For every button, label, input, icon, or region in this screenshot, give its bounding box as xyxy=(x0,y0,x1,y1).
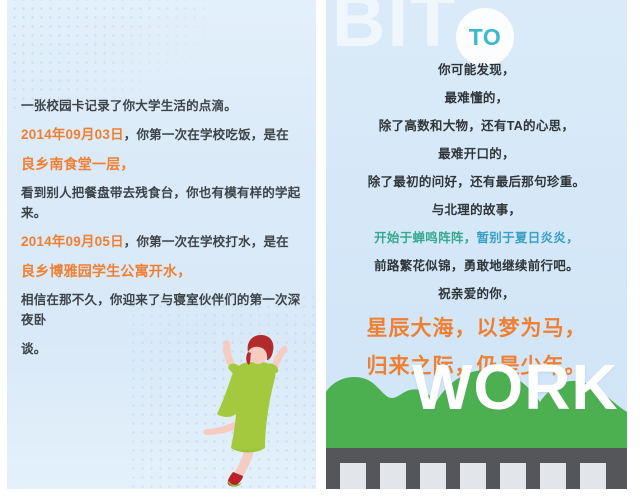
right-line-1: 最难懂的， xyxy=(332,90,621,107)
left-highlight-2: 良乡博雅园学生公寓开水， xyxy=(21,261,311,281)
date-rest-2: ，你第一次在学校打水，是在 xyxy=(124,235,289,249)
poster-root: 一张校园卡记录了你大学生活的点滴。 2014年09月03日，你第一次在学校吃饭，… xyxy=(0,0,640,500)
bit-wordmark: BIT xyxy=(332,0,457,58)
headline-line-1: 星辰大海，以梦为马， xyxy=(332,314,621,344)
to-badge: TO xyxy=(456,8,514,66)
right-line-7: 前路繁花似锦，勇敢地继续前行吧。 xyxy=(332,258,621,275)
crosswalk-stripe xyxy=(460,463,486,489)
crosswalk-stripe xyxy=(340,463,366,489)
right-panel-copy: 你可能发现， 最难懂的， 除了高数和大物，还有TA的心思， 最难开口的， 除了最… xyxy=(332,62,621,390)
left-panel-copy: 一张校园卡记录了你大学生活的点滴。 2014年09月03日，你第一次在学校吃饭，… xyxy=(21,96,311,368)
accent-segment-blue: 暂别于夏日炎炎， xyxy=(477,231,579,245)
right-panel: BIT TO 你可能发现， 最难懂的， 除了高数和大物，还有TA的心思， 最难开… xyxy=(326,0,627,489)
left-line-4: 2014年09月05日，你第一次在学校打水，是在 xyxy=(21,232,311,252)
left-panel: 一张校园卡记录了你大学生活的点滴。 2014年09月03日，你第一次在学校吃饭，… xyxy=(7,0,316,489)
work-wordmark: WORK xyxy=(412,355,619,419)
crosswalk-stripe xyxy=(500,463,526,489)
crosswalk-stripe xyxy=(540,463,566,489)
right-line-5: 与北理的故事， xyxy=(332,202,621,219)
right-line-4: 除了最初的问好，还有最后那句珍重。 xyxy=(332,174,621,191)
left-line-3: 看到别人把餐盘带去残食台，你也有模有样的学起来。 xyxy=(21,183,311,223)
dancing-girl-illustration xyxy=(189,330,309,489)
crosswalk-road xyxy=(326,448,627,489)
crosswalk-stripe xyxy=(420,463,446,489)
crosswalk-stripe xyxy=(380,463,406,489)
right-line-8: 祝亲爱的你， xyxy=(332,286,621,303)
crosswalk-stripe xyxy=(580,463,606,489)
right-line-2: 除了高数和大物，还有TA的心思， xyxy=(332,118,621,135)
left-line-1: 2014年09月03日，你第一次在学校吃饭，是在 xyxy=(21,125,311,145)
left-highlight-1: 良乡南食堂一层， xyxy=(21,154,311,174)
left-line-6: 相信在那不久，你迎来了与寝室伙伴们的第一次深夜卧 xyxy=(21,290,311,330)
date-label-1: 2014年09月03日 xyxy=(21,127,124,142)
to-badge-label: TO xyxy=(469,24,502,51)
accent-segment-teal: 开始于蝉鸣阵阵， xyxy=(374,231,476,245)
date-label-2: 2014年09月05日 xyxy=(21,234,124,249)
left-line-0: 一张校园卡记录了你大学生活的点滴。 xyxy=(21,96,311,116)
right-line-0: 你可能发现， xyxy=(332,62,621,79)
date-rest-1: ，你第一次在学校吃饭，是在 xyxy=(124,128,289,142)
right-line-3: 最难开口的， xyxy=(332,146,621,163)
right-line-6-two-tone: 开始于蝉鸣阵阵，暂别于夏日炎炎， xyxy=(332,230,621,247)
